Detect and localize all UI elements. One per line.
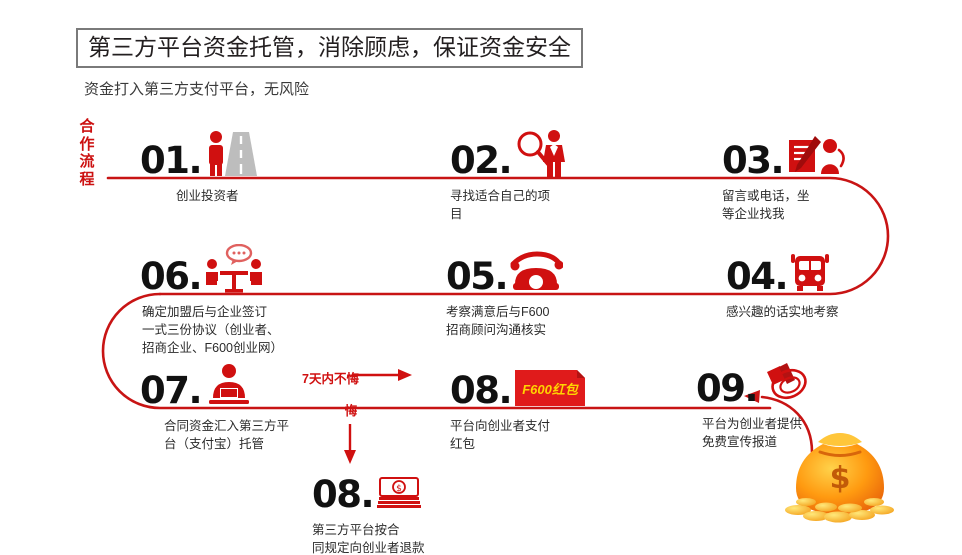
step-06-number: 06. xyxy=(140,259,201,294)
step-09-number: 09. xyxy=(696,371,757,406)
step-09-header: 09. xyxy=(696,356,876,406)
step-06-caption: 确定加盟后与企业签订 一式三份协议（创业者、 招商企业、F600创业网） xyxy=(140,303,355,357)
magnifier-businessman-icon xyxy=(513,128,573,178)
step-01[interactable]: 01. 创业投资者 xyxy=(140,128,320,205)
person-on-road-icon xyxy=(203,128,259,178)
document-pen-person-phone-icon xyxy=(785,132,847,178)
step-01-number: 01. xyxy=(140,143,201,178)
step-02[interactable]: 02. 寻找适合自己的项 目 xyxy=(450,128,620,223)
step-04-number: 04. xyxy=(726,259,787,294)
step-05[interactable]: 05. 考察满意后与F600 招商顾问沟通核实 xyxy=(446,244,631,339)
step-07-caption: 合同资金汇入第三方平 台（支付宝）托管 xyxy=(140,417,330,453)
money-bag-with-coins-icon: $ xyxy=(776,420,906,530)
bus-icon xyxy=(789,250,831,294)
step-08-payout-number: 08. xyxy=(450,373,511,408)
step-08-refund-header: 08. $ xyxy=(312,462,512,512)
step-05-header: 05. xyxy=(446,244,631,294)
step-04-header: 04. xyxy=(726,244,911,294)
step-05-number: 05. xyxy=(446,259,507,294)
step-06[interactable]: 06. 确定加盟后与企业签订 一式三份协议（创业者、 xyxy=(140,244,355,357)
step-01-header: 01. xyxy=(140,128,320,178)
step-07-number: 07. xyxy=(140,373,201,408)
svg-text:$: $ xyxy=(396,484,402,494)
telephone-icon xyxy=(509,250,563,294)
red-envelope-label: F600红包 xyxy=(513,368,587,408)
step-08-refund-number: 08. xyxy=(312,477,373,512)
step-03-caption: 留言或电话，坐 等企业找我 xyxy=(722,187,902,223)
step-05-caption: 考察满意后与F600 招商顾问沟通核实 xyxy=(446,303,631,339)
step-01-caption: 创业投资者 xyxy=(140,187,320,205)
svg-text:$: $ xyxy=(830,461,851,496)
megaphone-icon xyxy=(759,362,811,406)
infographic-canvas: 第三方平台资金托管，消除顾虑，保证资金安全 资金打入第三方支付平台，无风险 合 … xyxy=(0,0,962,555)
step-03[interactable]: 03. 留言或电话，坐 等企业找我 xyxy=(722,128,902,223)
step-08-payout[interactable]: 08. F600红包 平台向创业者支付 红包 xyxy=(450,358,620,453)
banknotes-icon: $ xyxy=(375,474,425,512)
step-04[interactable]: 04. 感兴趣的话实地考察 xyxy=(726,244,911,321)
step-02-number: 02. xyxy=(450,143,511,178)
red-envelope-icon: F600红包 xyxy=(513,368,587,408)
person-laptop-icon xyxy=(203,362,255,408)
step-08-payout-caption: 平台向创业者支付 红包 xyxy=(450,417,620,453)
step-06-header: 06. xyxy=(140,244,355,294)
step-08-payout-header: 08. F600红包 xyxy=(450,358,620,408)
step-08-refund[interactable]: 08. $ 第三方平台按合 同规定向创业者退款 xyxy=(312,462,512,555)
step-08-refund-caption: 第三方平台按合 同规定向创业者退款 xyxy=(312,521,512,555)
annotation-no-regret: 7天内不悔 xyxy=(302,368,359,387)
step-02-caption: 寻找适合自己的项 目 xyxy=(450,187,620,223)
annotation-regret: 悔 xyxy=(338,400,364,419)
step-03-header: 03. xyxy=(722,128,902,178)
step-03-number: 03. xyxy=(722,143,783,178)
step-04-caption: 感兴趣的话实地考察 xyxy=(726,303,911,321)
two-people-table-talk-icon xyxy=(203,244,265,294)
step-02-header: 02. xyxy=(450,128,620,178)
